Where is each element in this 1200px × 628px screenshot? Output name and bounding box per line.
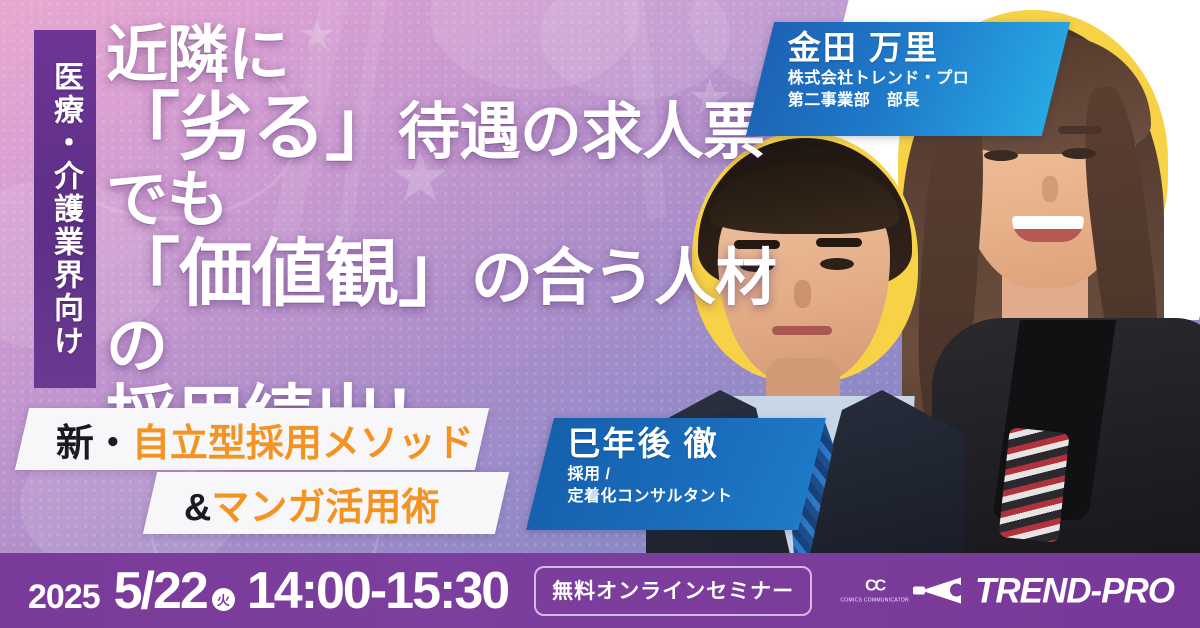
event-day-of-week-badge: 火 bbox=[212, 588, 235, 611]
subtitle-ribbon-1-prefix: 新・ bbox=[56, 423, 132, 465]
event-time: 14:00-15:30 bbox=[247, 561, 508, 621]
category-tag: 医療・介護業界向け bbox=[34, 30, 96, 388]
footer-bar: 2025 5/22 火 14:00-15:30 無料オンラインセミナー CC C… bbox=[0, 553, 1200, 628]
subtitle-ribbon-2: &マンガ活用術 bbox=[143, 472, 509, 534]
headline-line-2-emphasis: 「劣る」 bbox=[106, 86, 398, 169]
inner-top-stripes bbox=[998, 427, 1069, 543]
eye-right bbox=[820, 258, 854, 270]
eyebrow-right bbox=[816, 238, 862, 247]
event-datetime: 2025 5/22 火 14:00-15:30 bbox=[28, 561, 508, 621]
speaker-nameplate-kaneda: 金田 万里 株式会社トレンド・プロ 第二事業部 部長 bbox=[746, 22, 1070, 136]
teeth bbox=[1012, 216, 1084, 229]
cc-tagline: COMICS COMMUNICATOR bbox=[840, 598, 909, 604]
speaker-role-line-2: 定着化コンサルタント bbox=[568, 486, 796, 507]
webinar-banner: 医療・介護業界向け 近隣に 「劣る」待遇の求人票でも 「価値観」の合う人材の 採… bbox=[0, 0, 1200, 628]
subtitle-ribbon-2-prefix: & bbox=[184, 487, 211, 529]
megaphone-opening bbox=[950, 584, 963, 597]
headline: 近隣に 「劣る」待遇の求人票でも 「価値観」の合う人材の 採用続出！ bbox=[106, 24, 806, 454]
speaker-role-line-1: 採用 / bbox=[568, 464, 796, 485]
speaker-role-line-2: 第二事業部 部長 bbox=[788, 90, 1040, 111]
speaker-role-line-1: 株式会社トレンド・プロ bbox=[788, 68, 1040, 89]
eye-right bbox=[1062, 148, 1096, 159]
subtitle-ribbon-1-main: 自立型採用メソッド bbox=[132, 423, 474, 465]
subtitle-ribbon-1-text: 新・自立型採用メソッド bbox=[56, 412, 474, 467]
mouth bbox=[1012, 216, 1084, 242]
cc-block: CC COMICS COMMUNICATOR bbox=[840, 579, 909, 604]
subtitle-ribbon-2-text: &マンガ活用術 bbox=[184, 476, 439, 531]
speaker-name: 金田 万里 bbox=[788, 30, 1040, 67]
event-year: 2025 bbox=[28, 578, 100, 617]
event-month-day: 5/22 bbox=[114, 561, 207, 621]
eye-left bbox=[984, 150, 1018, 161]
subtitle-ribbon-1: 新・自立型採用メソッド bbox=[15, 408, 489, 470]
free-online-seminar-badge: 無料オンラインセミナー bbox=[534, 566, 812, 616]
nameplate-content: 金田 万里 株式会社トレンド・プロ 第二事業部 部長 bbox=[762, 22, 1058, 121]
megaphone-handle bbox=[913, 587, 925, 595]
headline-line-3: 「価値観」の合う人材の bbox=[106, 235, 806, 379]
megaphone-icon bbox=[913, 578, 965, 604]
nameplate-content: 巳年後 徹 採用 / 定着化コンサルタント bbox=[542, 418, 814, 517]
speaker-nameplate-minengo: 巳年後 徹 採用 / 定着化コンサルタント bbox=[526, 418, 826, 530]
logo-mark: CC COMICS COMMUNICATOR bbox=[840, 578, 965, 604]
speaker-name: 巳年後 徹 bbox=[568, 426, 796, 463]
headline-line-2: 「劣る」待遇の求人票でも bbox=[106, 89, 806, 233]
trend-pro-logo: CC COMICS COMMUNICATOR TREND-PRO bbox=[840, 573, 1174, 608]
category-tag-label: 医療・介護業界向け bbox=[50, 61, 80, 358]
subtitle-ribbon-2-main: マンガ活用術 bbox=[211, 487, 439, 529]
headline-line-1: 近隣に bbox=[106, 24, 806, 87]
eyebrow-right bbox=[1058, 126, 1102, 134]
cc-initials: CC bbox=[865, 579, 884, 595]
headline-line-3-emphasis: 「価値観」 bbox=[106, 232, 471, 315]
nose bbox=[1042, 176, 1058, 202]
logo-wordmark: TREND-PRO bbox=[975, 573, 1174, 608]
